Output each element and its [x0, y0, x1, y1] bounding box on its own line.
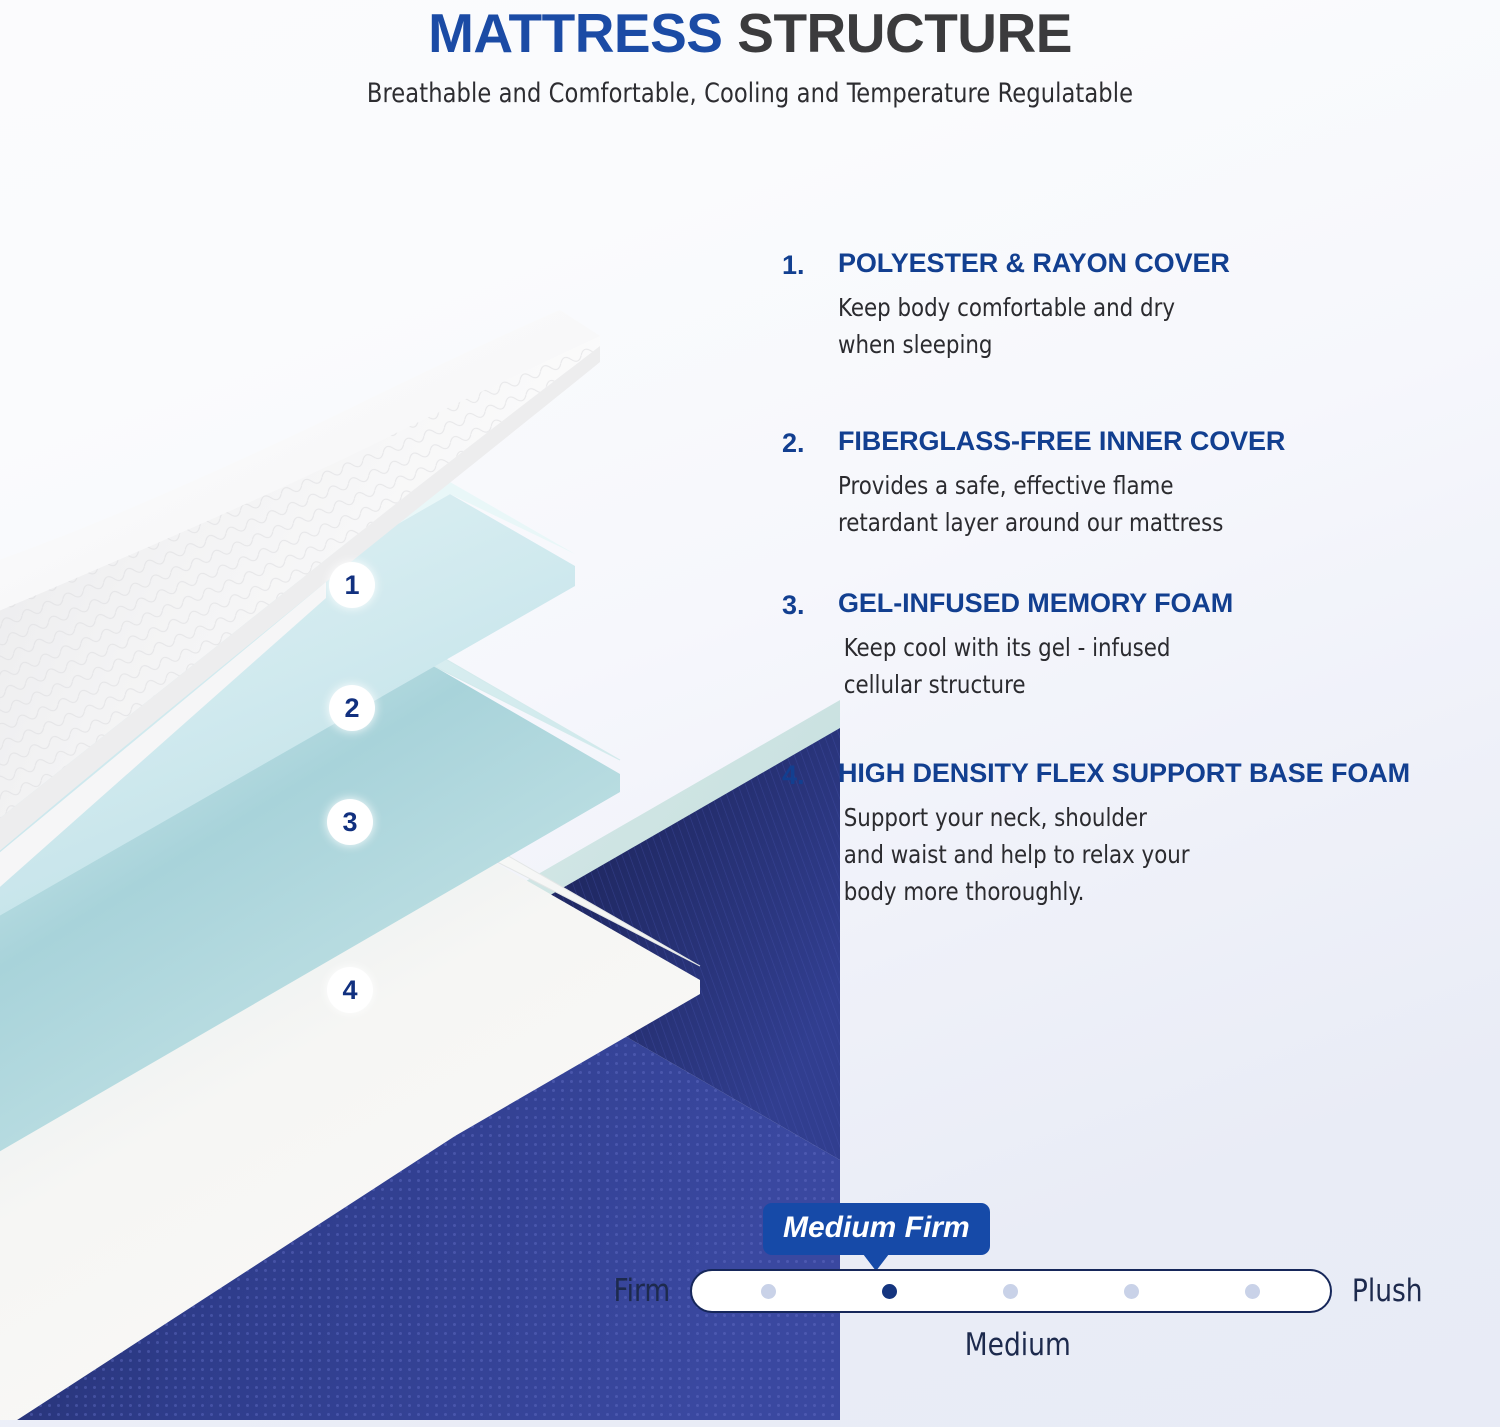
firmness-scale-row: Firm Plush [612, 1269, 1424, 1313]
feature-number: 4. [782, 755, 838, 910]
firmness-dot-2-selected[interactable] [882, 1284, 897, 1299]
firmness-dot-1[interactable] [761, 1284, 776, 1299]
feature-item-polyester-rayon-cover: 1. POLYESTER & RAYON COVER Keep body com… [782, 245, 1422, 363]
firmness-dot-5[interactable] [1245, 1284, 1260, 1299]
firmness-dot-3[interactable] [1003, 1284, 1018, 1299]
feature-number: 2. [782, 423, 838, 541]
firmness-dot-4[interactable] [1124, 1284, 1139, 1299]
feature-description: Keep cool with its gel - infused cellula… [838, 629, 1393, 703]
feature-item-gel-infused-memory-foam: 3. GEL-INFUSED MEMORY FOAM Keep cool wit… [782, 585, 1422, 703]
feature-heading: HIGH DENSITY FLEX SUPPORT BASE FOAM [838, 755, 1422, 792]
feature-list: 1. POLYESTER & RAYON COVER Keep body com… [782, 245, 1422, 910]
firmness-badge: Medium Firm [763, 1203, 990, 1255]
firmness-label-medium: Medium [612, 1325, 1424, 1365]
marker-1-cover[interactable]: 1 [329, 562, 375, 608]
feature-number: 3. [782, 585, 838, 703]
feature-heading: GEL-INFUSED MEMORY FOAM [838, 585, 1422, 622]
marker-4-base-foam[interactable]: 4 [327, 967, 373, 1013]
page-header: MATTRESS STRUCTURE Breathable and Comfor… [0, 0, 1500, 109]
marker-2-inner-cover[interactable]: 2 [329, 685, 375, 731]
feature-description: Provides a safe, effective flame retarda… [838, 467, 1393, 541]
firmness-scale: Medium Firm Firm Plush Medium [612, 1203, 1424, 1373]
feature-heading: FIBERGLASS-FREE INNER COVER [838, 423, 1422, 460]
page-title: MATTRESS STRUCTURE [0, 2, 1500, 64]
marker-3-gel-foam[interactable]: 3 [327, 799, 373, 845]
feature-number: 1. [782, 245, 838, 363]
feature-description: Keep body comfortable and dry when sleep… [838, 289, 1393, 363]
feature-item-fiberglass-free-inner-cover: 2. FIBERGLASS-FREE INNER COVER Provides … [782, 423, 1422, 541]
page-subtitle: Breathable and Comfortable, Cooling and … [53, 78, 1448, 109]
feature-description: Support your neck, shoulder and waist an… [838, 799, 1393, 910]
firmness-label-firm: Firm [613, 1271, 670, 1311]
page-title-secondary: STRUCTURE [722, 2, 1071, 64]
feature-item-high-density-flex-support-base-foam: 4. HIGH DENSITY FLEX SUPPORT BASE FOAM S… [782, 755, 1422, 910]
firmness-label-plush: Plush [1351, 1271, 1422, 1311]
feature-heading: POLYESTER & RAYON COVER [838, 245, 1422, 282]
firmness-slider-track[interactable] [690, 1269, 1332, 1313]
firmness-label-medium-text: Medium [965, 1325, 1071, 1365]
page-title-primary: MATTRESS [428, 2, 722, 64]
firmness-badge-label: Medium Firm [783, 1210, 970, 1246]
